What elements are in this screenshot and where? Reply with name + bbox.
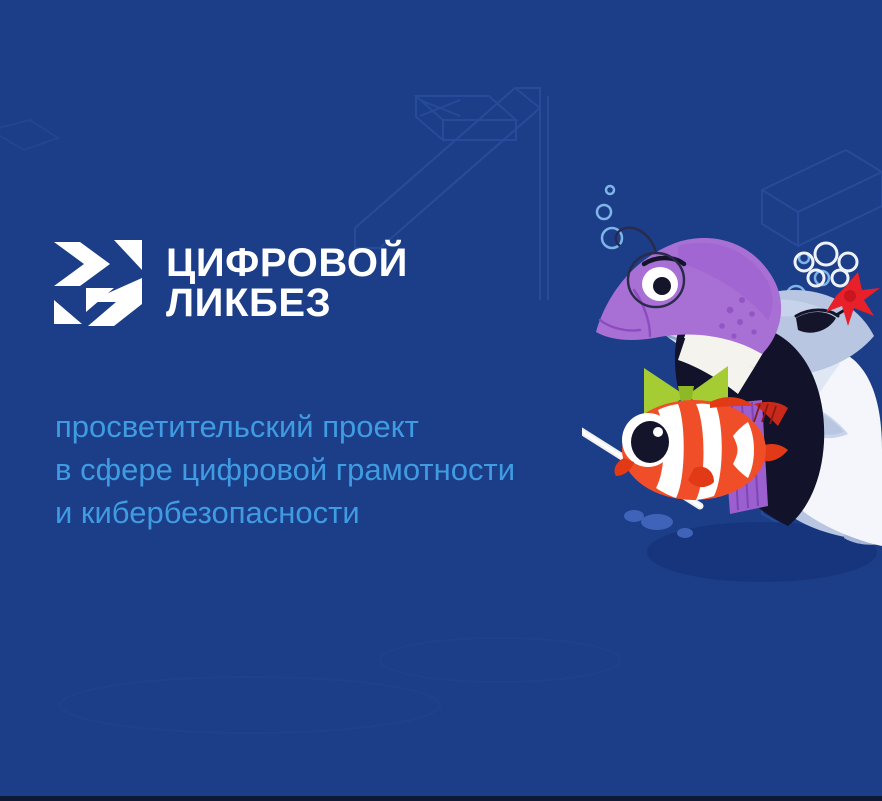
dolphin-pearls (795, 243, 857, 286)
subtitle-block: просветительский проект в сфере цифровой… (55, 405, 655, 534)
bubbles-left (597, 186, 622, 248)
subtitle-line-2: в сфере цифровой грамотности (55, 448, 655, 491)
fin-right (722, 400, 768, 514)
green-bow-tie (644, 366, 728, 424)
logo-line-1: ЦИФРОВОЙ (166, 244, 408, 284)
logo-chevron-mark (52, 238, 144, 328)
promo-banner: ЦИФРОВОЙ ЛИКБЕЗ просветительский проект … (0, 0, 882, 801)
logo-wordmark: ЦИФРОВОЙ ЛИКБЕЗ (166, 242, 408, 323)
background-line-art (0, 0, 882, 801)
subtitle-line-1: просветительский проект (55, 405, 655, 448)
fin-left (658, 412, 694, 486)
subtitle-line-3: и кибербезопасности (55, 491, 655, 534)
bottom-edge-strip (0, 796, 882, 801)
logo-lockup[interactable]: ЦИФРОВОЙ ЛИКБЕЗ (52, 238, 408, 328)
underwater-characters-illustration (582, 150, 882, 620)
dolphin-in-lab-coat (660, 243, 882, 546)
dolphin-flower (826, 272, 880, 326)
logo-line-2: ЛИКБЕЗ (166, 284, 408, 324)
monocle (616, 228, 684, 307)
fish-pupil (653, 277, 671, 295)
bubbles-right (787, 253, 829, 304)
fish-eye-white (642, 267, 678, 301)
